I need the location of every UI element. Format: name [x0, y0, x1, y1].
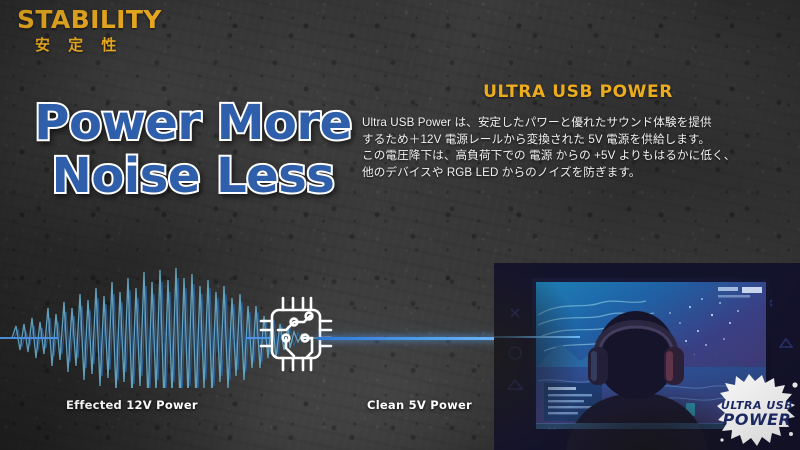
- vignette-overlay: [0, 0, 800, 450]
- slide-canvas: STABILITY 安 定 性 Power More Noise Less UL…: [0, 0, 800, 450]
